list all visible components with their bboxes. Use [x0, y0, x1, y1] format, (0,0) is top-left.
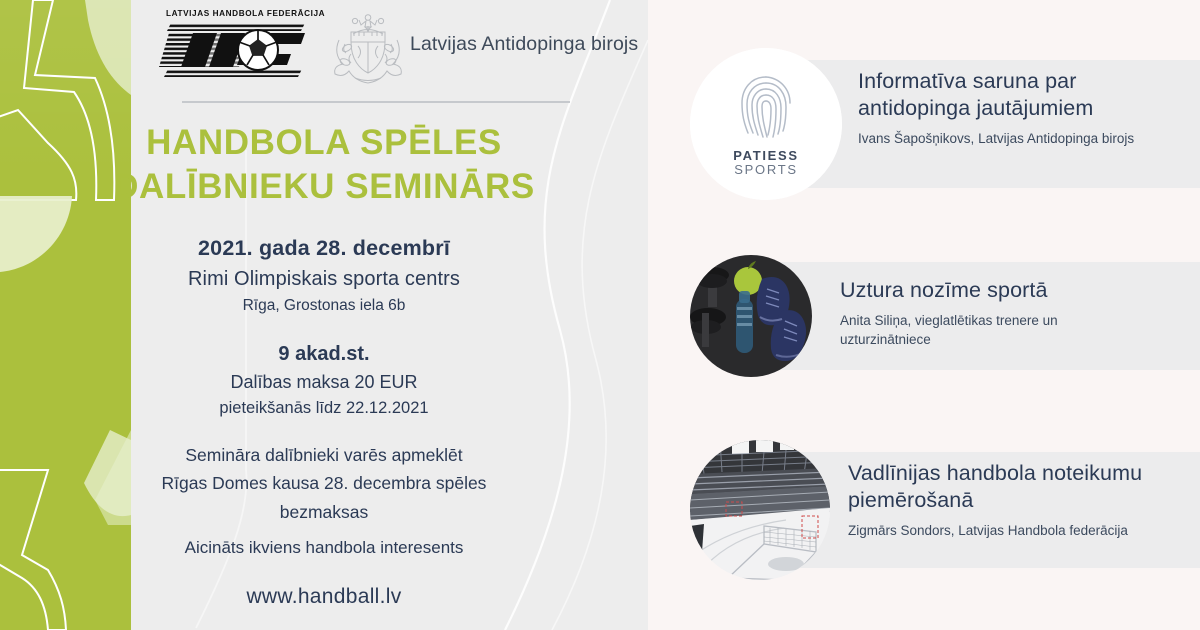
fingerprint-icon [735, 71, 797, 147]
event-fee-block: 9 akad.st. Dalības maksa 20 EUR pieteikš… [0, 343, 648, 418]
event-fee: Dalības maksa 20 EUR [0, 372, 648, 393]
event-date-venue: 2021. gada 28. decembrī Rimi Olimpiskais… [0, 236, 648, 315]
lhf-logo-caption: LATVIJAS HANDBOLA FEDERĀCIJA [166, 9, 325, 18]
latvia-coat-of-arms [325, 12, 411, 84]
session-title: Informatīva saruna par antidopinga jautā… [858, 68, 1158, 122]
session-title: Uztura nozīme sportā [840, 277, 1150, 304]
event-date: 2021. gada 28. decembrī [0, 236, 648, 261]
session-speaker: Zigmārs Sondors, Latvijas Handbola feder… [848, 521, 1158, 540]
handball-arena-image [690, 440, 830, 580]
lhf-logo: LATVIJAS HANDBOLA FEDERĀCIJA [159, 7, 309, 79]
invitation-text: Aicināts ikviens handbola interesents [0, 538, 648, 558]
page-title: HANDBOLA SPĒLES DALĪBNIEKU SEMINĀRS [0, 121, 648, 209]
title-line-1: HANDBOLA SPĒLES [0, 121, 648, 165]
header-divider [182, 101, 570, 103]
event-venue: Rimi Olimpiskais sporta centrs [0, 268, 648, 291]
free-entry-line-3: bezmaksas [0, 498, 648, 526]
session-text: Informatīva saruna par antidopinga jautā… [858, 68, 1158, 148]
patiess-sports-wordmark: PATIESS SPORTS [733, 149, 799, 176]
session-card[interactable]: Uztura nozīme sportā Anita Siliņa, viegl… [690, 255, 1150, 377]
session-text: Vadlīnijas handbola noteikumu piemērošan… [848, 460, 1158, 540]
patiess-line-1: PATIESS [733, 149, 799, 163]
free-entry-line-2: Rīgas Domes kausa 28. decembra spēles [0, 469, 648, 497]
session-title: Vadlīnijas handbola noteikumu piemērošan… [848, 460, 1158, 514]
nutrition-photo [690, 255, 812, 377]
title-line-2: DALĪBNIEKU SEMINĀRS [0, 165, 648, 209]
event-duration: 9 akad.st. [0, 343, 648, 366]
session-card[interactable]: Vadlīnijas handbola noteikumu piemērošan… [690, 440, 1150, 580]
session-speaker: Ivans Šapošņikovs, Latvijas Antidopinga … [858, 129, 1158, 148]
lhf-logo-mark [159, 20, 307, 80]
session-text: Uztura nozīme sportā Anita Siliņa, viegl… [840, 277, 1150, 349]
registration-deadline: pieteikšanās līdz 22.12.2021 [0, 399, 648, 418]
header-logos: LATVIJAS HANDBOLA FEDERĀCIJA [155, 4, 655, 90]
antidoping-bureau-name: Latvijas Antidopinga birojs [410, 33, 638, 56]
free-entry-note: Semināra dalībnieki varēs apmeklēt Rīgas… [0, 441, 648, 526]
free-entry-line-1: Semināra dalībnieki varēs apmeklēt [0, 441, 648, 469]
green-accent-panel [0, 0, 131, 630]
patiess-sports-logo: PATIESS SPORTS [690, 48, 842, 200]
session-speaker: Anita Siliņa, vieglatlētikas trenere un … [840, 311, 1150, 349]
website-url[interactable]: www.handball.lv [0, 585, 648, 609]
patiess-line-2: SPORTS [733, 163, 799, 177]
handball-arena-photo [690, 440, 830, 580]
session-card[interactable]: PATIESS SPORTS Informatīva saruna par an… [690, 48, 1150, 200]
event-address: Rīga, Grostonas iela 6b [0, 297, 648, 315]
poster: LATVIJAS HANDBOLA FEDERĀCIJA [0, 0, 1200, 630]
nutrition-photo-image [690, 255, 812, 377]
